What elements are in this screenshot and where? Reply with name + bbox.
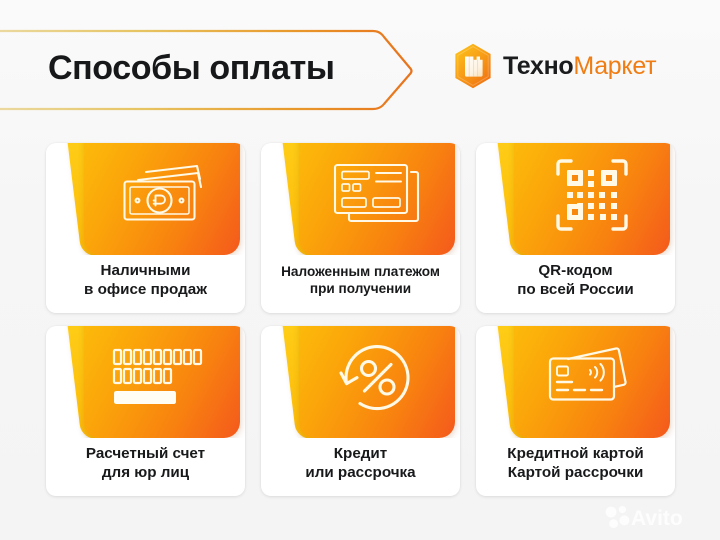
page-title: Способы оплаты [48,40,388,96]
brand-logo[interactable]: ТехноМаркет [452,42,656,90]
card-caption-line: Кредит [334,444,387,463]
card-caption: Расчетный счет для юр лиц [46,438,245,496]
card-caption-line: или рассрочка [305,463,415,482]
card-artwork [476,326,675,438]
percent-refresh-icon [338,339,416,417]
card-caption-line: для юр лиц [102,463,189,482]
card-caption: Наличными в офисе продаж [46,255,245,313]
tile-foreground [84,143,240,255]
payment-method-card[interactable]: Наложенным платежом при получении [261,143,460,313]
payment-method-card[interactable]: Расчетный счет для юр лиц [46,326,245,496]
payment-method-card[interactable]: Кредит или рассрочка [261,326,460,496]
card-caption-line: Наличными [101,261,191,280]
hexagon-building-icon [452,42,494,90]
payment-method-card[interactable]: Кредитной картой Картой рассрочки [476,326,675,496]
tile-foreground [299,143,455,255]
card-caption-line: QR-кодом [538,261,612,280]
tile-foreground [514,326,670,438]
card-caption: Кредитной картой Картой рассрочки [476,438,675,496]
card-caption-line: в офисе продаж [84,280,207,299]
banknotes-ruble-icon [118,164,206,226]
brand-name: ТехноМаркет [503,54,656,79]
tile-foreground [84,326,240,438]
card-artwork [46,326,245,438]
card-caption-line: Картой рассрочки [508,463,644,482]
card-caption: Наложенным платежом при получении [261,255,460,313]
page-title-text: Способы оплаты [48,49,334,88]
card-artwork [261,326,460,438]
card-artwork [261,143,460,255]
account-number-icon [112,347,212,409]
payment-method-card[interactable]: Наличными в офисе продаж [46,143,245,313]
payment-method-card[interactable]: QR-кодом по всей России [476,143,675,313]
avito-watermark: Avito [604,504,708,530]
card-caption-line: Расчетный счет [86,444,205,463]
svg-text:Avito: Avito [631,507,683,530]
qr-code-icon [555,158,629,232]
brand-name-secondary: Маркет [573,52,656,80]
card-caption: Кредит или рассрочка [261,438,460,496]
tile-foreground [514,143,670,255]
card-artwork [46,143,245,255]
header: Способы оплаты [0,0,720,120]
avito-logo-icon: Avito [604,504,708,530]
card-caption-line: по всей России [517,280,633,299]
payment-methods-infographic: Способы оплаты [0,0,720,540]
card-caption: QR-кодом по всей России [476,255,675,313]
card-caption-line: Наложенным платежом [281,263,440,280]
card-caption-line: при получении [310,280,411,297]
card-caption-line: Кредитной картой [507,444,643,463]
credit-cards-contactless-icon [546,345,638,411]
brand-name-primary: Техно [503,52,573,80]
invoice-document-icon [331,162,423,228]
tile-foreground [299,326,455,438]
payment-methods-grid: Наличными в офисе продаж [46,143,674,496]
card-artwork [476,143,675,255]
